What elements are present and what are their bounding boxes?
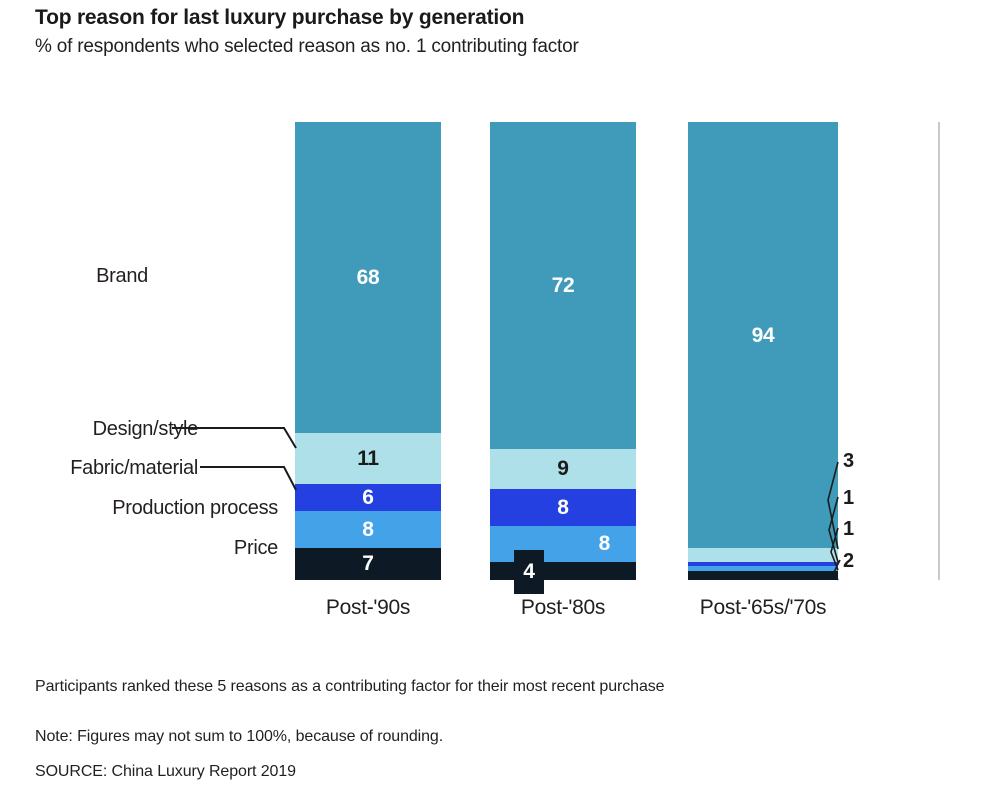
segment-production-process[interactable]: 8 [295, 511, 441, 548]
category-label-post-65s-70s: Post-'65s/'70s [678, 596, 848, 620]
segment-value: 11 [357, 448, 379, 469]
segment-fabric-material[interactable]: 6 [295, 484, 441, 511]
series-label-fabric-material: Fabric/material [18, 457, 198, 480]
outside-value-price: 2 [843, 550, 854, 573]
stacked-bar-post-90s[interactable]: 68 11 6 8 7 [295, 122, 441, 580]
segment-value: 8 [362, 519, 373, 540]
segment-value: 68 [357, 267, 380, 288]
outside-value-design-style: 3 [843, 450, 854, 473]
segment-design-style[interactable]: 9 [490, 449, 636, 490]
segment-production-process[interactable]: 8 [490, 526, 636, 562]
segment-brand[interactable]: 68 [295, 122, 441, 433]
series-label-price: Price [18, 537, 278, 560]
segment-price[interactable]: 4 [490, 562, 636, 580]
segment-value: 8 [557, 497, 568, 518]
segment-value: 4 [523, 561, 534, 582]
segment-price[interactable]: 2 [688, 571, 838, 580]
right-axis-rule [938, 122, 940, 580]
series-label-design-style: Design/style [18, 418, 198, 441]
leader-line-fabric-material [200, 467, 296, 490]
outside-value-production-process: 1 [843, 518, 854, 541]
segment-value: 7 [362, 553, 373, 574]
series-label-brand: Brand [18, 265, 148, 288]
chart-plot-area: Brand Design/style Fabric/material Produ… [0, 0, 990, 600]
segment-design-style[interactable]: 3 [688, 548, 838, 562]
segment-fabric-material[interactable]: 8 [490, 489, 636, 525]
category-label-post-80s: Post-'80s [490, 596, 636, 620]
outside-value-fabric-material: 1 [843, 487, 854, 510]
footnote-source: SOURCE: China Luxury Report 2019 [35, 763, 296, 781]
segment-value: 9 [557, 458, 568, 479]
segment-price[interactable]: 7 [295, 548, 441, 580]
segment-value-callout: 4 [514, 550, 544, 594]
segment-value: 8 [599, 533, 610, 554]
segment-value: 72 [552, 275, 575, 296]
segment-value: 6 [362, 487, 373, 508]
segment-value: 94 [752, 325, 775, 346]
segment-design-style[interactable]: 11 [295, 433, 441, 483]
footnote-participants: Participants ranked these 5 reasons as a… [35, 678, 664, 696]
stacked-bar-post-80s[interactable]: 72 9 8 8 4 [490, 122, 636, 580]
category-label-post-90s: Post-'90s [295, 596, 441, 620]
segment-brand[interactable]: 72 [490, 122, 636, 449]
stacked-bar-post-65s-70s[interactable]: 94 3 1 1 2 [688, 122, 838, 580]
footnote-note: Note: Figures may not sum to 100%, becau… [35, 728, 443, 746]
series-label-production-process: Production process [18, 497, 278, 520]
segment-brand[interactable]: 94 [688, 122, 838, 548]
